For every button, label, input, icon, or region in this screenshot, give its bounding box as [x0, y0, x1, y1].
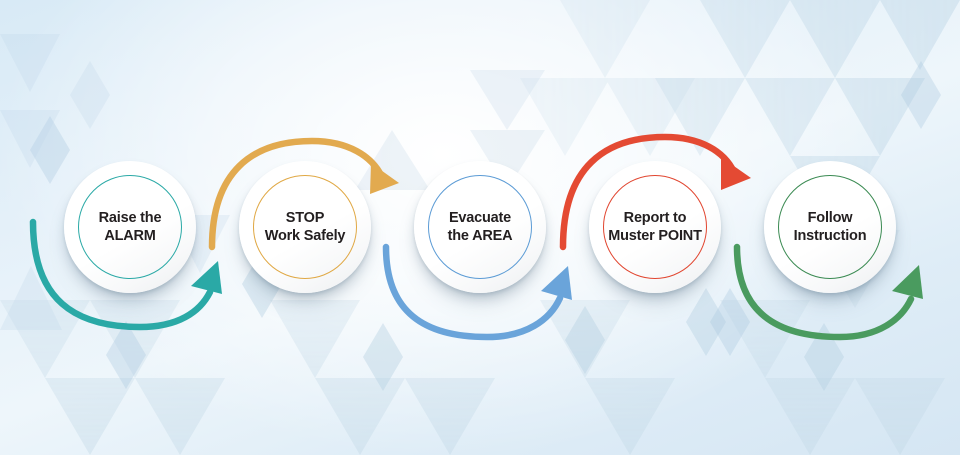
step-label-2: STOP Work Safely: [243, 209, 367, 245]
step-label-3: Evacuate the AREA: [418, 209, 542, 245]
step-label-1-line1: Raise the: [99, 210, 162, 226]
step-label-5-line2: Instruction: [768, 227, 892, 245]
step-circle-2[interactable]: STOP Work Safely: [239, 161, 371, 293]
step-circle-1[interactable]: Raise the ALARM: [64, 161, 196, 293]
step-label-1: Raise the ALARM: [68, 209, 192, 245]
step-label-2-line1: STOP: [286, 210, 324, 226]
step-label-3-line2: the AREA: [418, 227, 542, 245]
step-circle-5[interactable]: Follow Instruction: [764, 161, 896, 293]
step-circle-3[interactable]: Evacuate the AREA: [414, 161, 546, 293]
step-label-5-line1: Follow: [808, 210, 853, 226]
step-circles: Raise the ALARM STOP Work Safely Evacuat…: [0, 0, 960, 455]
step-label-4-line1: Report to: [624, 210, 687, 226]
step-label-4-line2: Muster POINT: [593, 227, 717, 245]
step-label-1-line2: ALARM: [68, 227, 192, 245]
step-circle-4[interactable]: Report to Muster POINT: [589, 161, 721, 293]
step-label-2-line2: Work Safely: [243, 227, 367, 245]
step-label-3-line1: Evacuate: [449, 210, 511, 226]
step-label-5: Follow Instruction: [768, 209, 892, 245]
infographic-canvas: Raise the ALARM STOP Work Safely Evacuat…: [0, 0, 960, 455]
step-label-4: Report to Muster POINT: [593, 209, 717, 245]
